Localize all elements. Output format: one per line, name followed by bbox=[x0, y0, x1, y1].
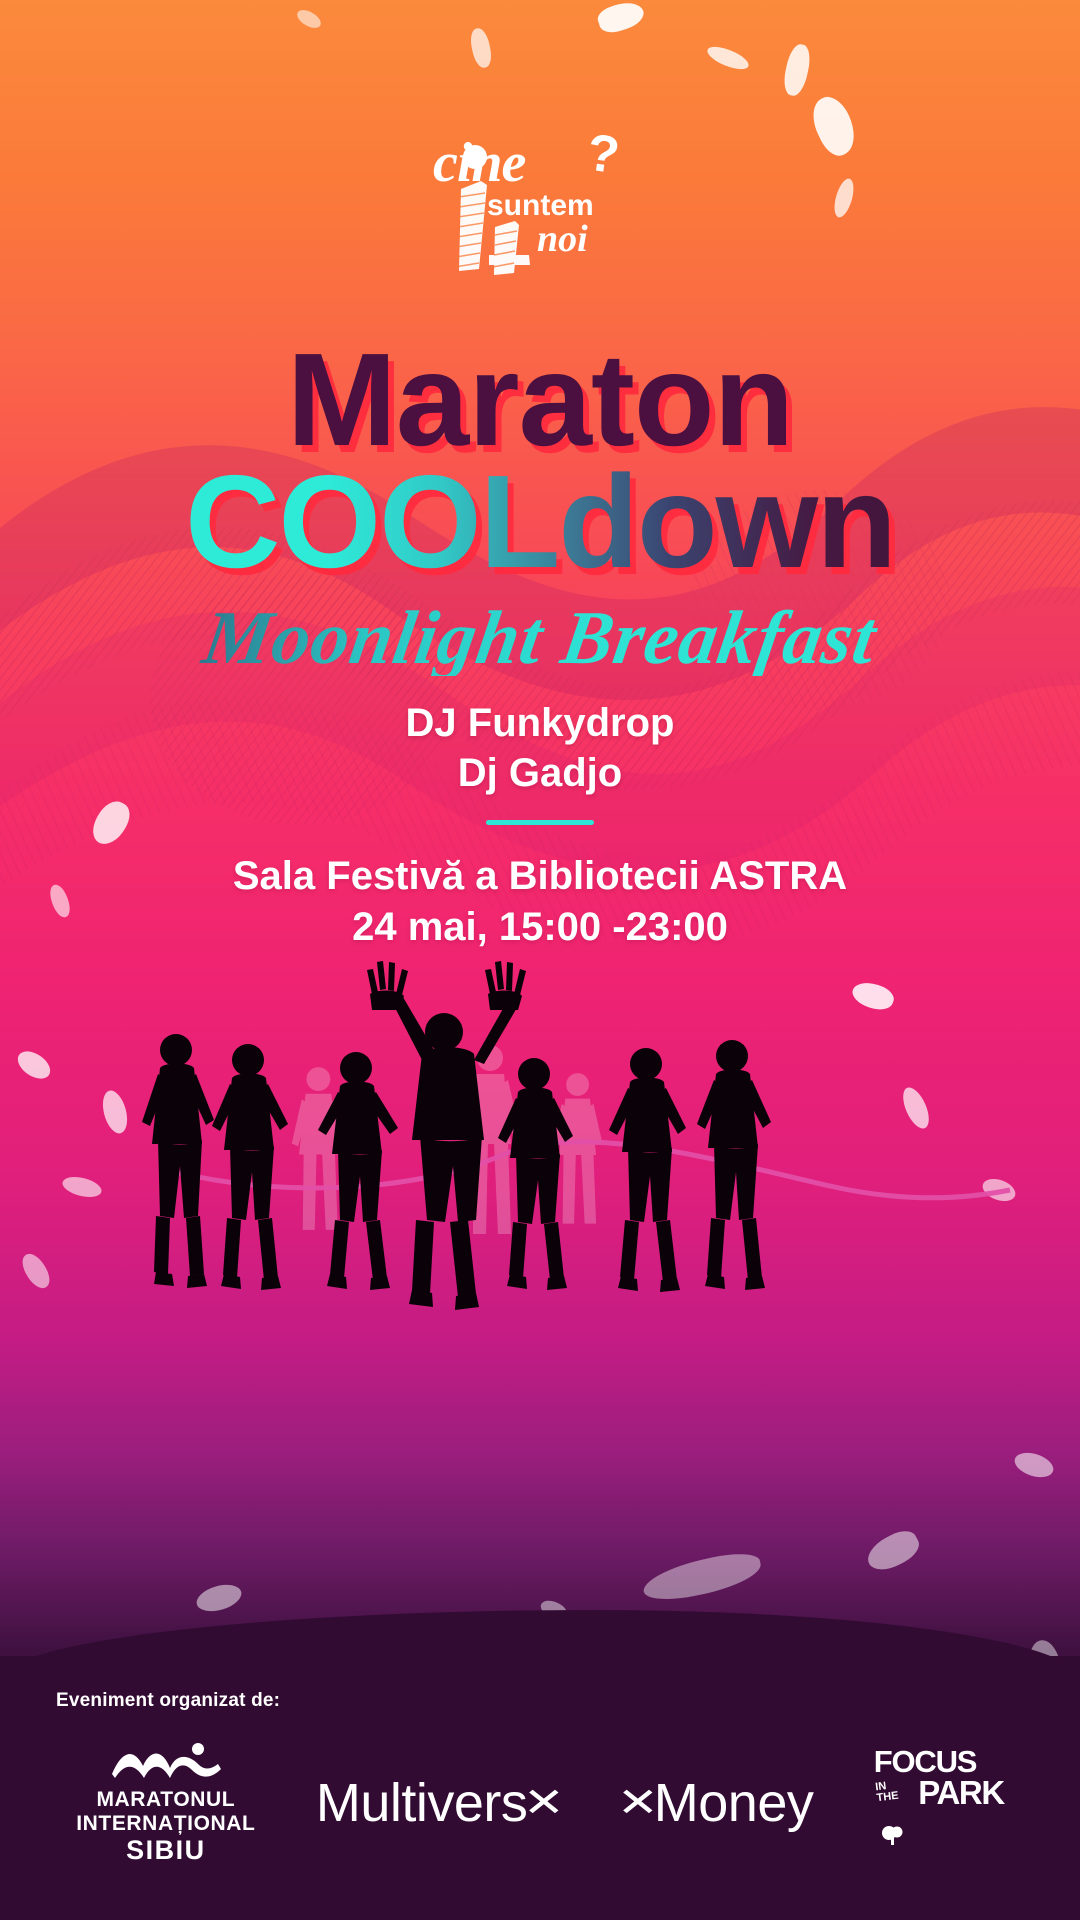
sponsor-logo-money: ✕ Money bbox=[621, 1772, 814, 1834]
poster-footer: Eveniment organizat de: MARATONUL INTERN… bbox=[0, 1656, 1080, 1920]
title-script-moonlight-breakfast: Moonlight Breakfast bbox=[0, 600, 1080, 676]
venue-name: Sala Festivă a Bibliotecii ASTRA bbox=[0, 851, 1080, 902]
money-text: Money bbox=[654, 1772, 814, 1834]
mis-wordmark: MARATONUL INTERNAȚIONAL SIBIU bbox=[76, 1788, 255, 1865]
logo-head-dot bbox=[463, 145, 487, 169]
sponsor-logo-multivers: Multivers ✕ bbox=[316, 1772, 561, 1834]
event-details: Sala Festivă a Bibliotecii ASTRA 24 mai,… bbox=[0, 851, 1080, 953]
focus-park-line-1: FOCUS bbox=[874, 1747, 1004, 1777]
focus-park-wordmark: FOCUS IN THE PARK bbox=[874, 1747, 1004, 1859]
headline-block: Maraton COOLdown Moonlight Breakfast DJ … bbox=[0, 336, 1080, 953]
sponsor-logo-row: MARATONUL INTERNAȚIONAL SIBIU Multivers … bbox=[0, 1728, 1080, 1878]
teal-divider bbox=[486, 820, 594, 825]
runner-silhouettes bbox=[0, 950, 1080, 1370]
event-datetime: 24 mai, 15:00 -23:00 bbox=[0, 902, 1080, 953]
artist-name-1: DJ Funkydrop bbox=[0, 698, 1080, 748]
money-x-icon: ✕ bbox=[617, 1780, 658, 1826]
multivers-x-icon: ✕ bbox=[523, 1780, 564, 1826]
mis-wave-icon bbox=[110, 1740, 222, 1782]
organizer-label: Eveniment organizat de: bbox=[56, 1690, 280, 1712]
logo-text-noi: noi bbox=[537, 218, 588, 260]
mis-line-1: MARATONUL bbox=[76, 1788, 255, 1812]
multivers-wordmark: Multivers ✕ bbox=[316, 1772, 561, 1834]
sponsor-logo-focus-in-the-park: FOCUS IN THE PARK bbox=[874, 1747, 1004, 1859]
mis-line-3: SIBIU bbox=[76, 1835, 255, 1865]
money-wordmark: ✕ Money bbox=[621, 1772, 814, 1834]
artist-name-2: Dj Gadjo bbox=[0, 748, 1080, 798]
sponsor-logo-maratonul-international-sibiu: MARATONUL INTERNAȚIONAL SIBIU bbox=[76, 1740, 255, 1865]
event-poster: cine ? suntem noi bbox=[0, 0, 1080, 1920]
title-line-maraton: Maraton bbox=[0, 336, 1080, 464]
mis-line-2: INTERNAȚIONAL bbox=[76, 1812, 255, 1836]
title-line-cooldown: COOLdown bbox=[0, 458, 1080, 586]
logo-text-question: ? bbox=[583, 123, 623, 185]
multivers-text: Multivers bbox=[316, 1772, 528, 1834]
focus-park-tree-icon bbox=[880, 1825, 906, 1845]
focus-park-mid: IN THE bbox=[874, 1780, 899, 1805]
artist-list: DJ Funkydrop Dj Gadjo bbox=[0, 698, 1080, 798]
brand-logo: cine ? suntem noi bbox=[0, 118, 1080, 288]
